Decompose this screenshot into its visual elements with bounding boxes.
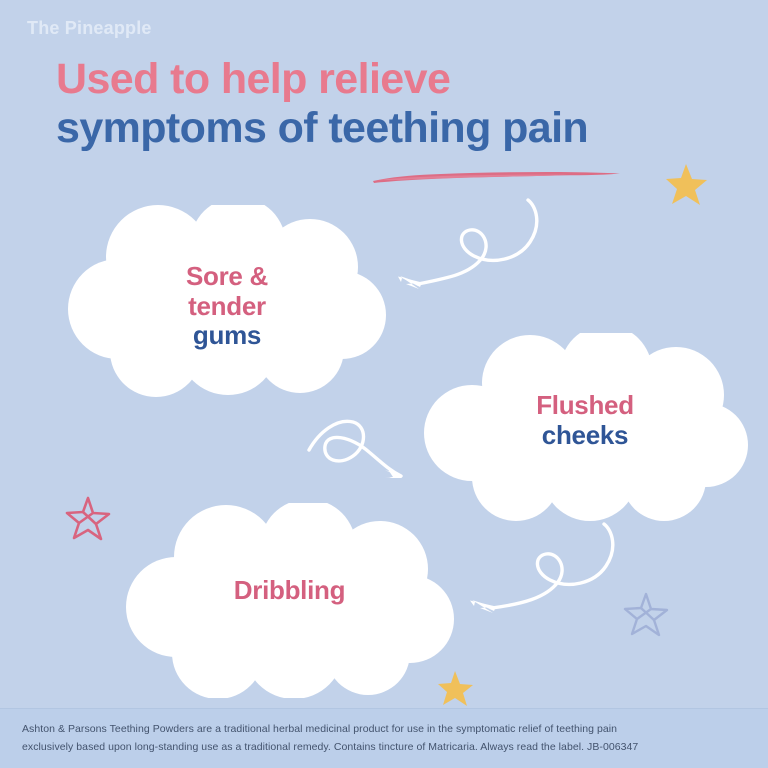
headline-line-2: symptoms of teething pain xyxy=(56,106,716,152)
poster-canvas: The Pineapple Used to help relieve sympt… xyxy=(0,0,768,768)
brand-label: The Pineapple xyxy=(27,18,152,39)
symptom-cloud-dribbling: Dribbling xyxy=(122,503,457,698)
symptom-cloud-flushed-cheeks: Flushed cheeks xyxy=(420,333,750,523)
curly-arrow-right-icon xyxy=(305,398,425,493)
cloud-shape xyxy=(122,503,457,698)
disclaimer-line-1: Ashton & Parsons Teething Powders are a … xyxy=(22,720,750,738)
disclaimer-text: Ashton & Parsons Teething Powders are a … xyxy=(22,720,750,757)
page-title: Used to help relieve symptoms of teethin… xyxy=(56,57,716,151)
gold-star-icon xyxy=(662,160,710,208)
cloud-shape xyxy=(62,205,392,400)
disclaimer-line-2: exclusively based upon long-standing use… xyxy=(22,738,750,756)
cloud-shape xyxy=(420,333,750,523)
headline-line-1: Used to help relieve xyxy=(56,57,716,103)
symptom-cloud-sore-tender-gums: Sore & tender gums xyxy=(62,205,392,400)
periwinkle-outline-star-icon xyxy=(620,588,672,640)
pink-outline-star-icon xyxy=(62,492,114,544)
curly-arrow-left-icon xyxy=(450,518,640,633)
disclaimer-bar: Ashton & Parsons Teething Powders are a … xyxy=(0,708,768,768)
curly-arrow-left-icon xyxy=(378,196,563,316)
brush-underline-decoration xyxy=(371,168,623,186)
